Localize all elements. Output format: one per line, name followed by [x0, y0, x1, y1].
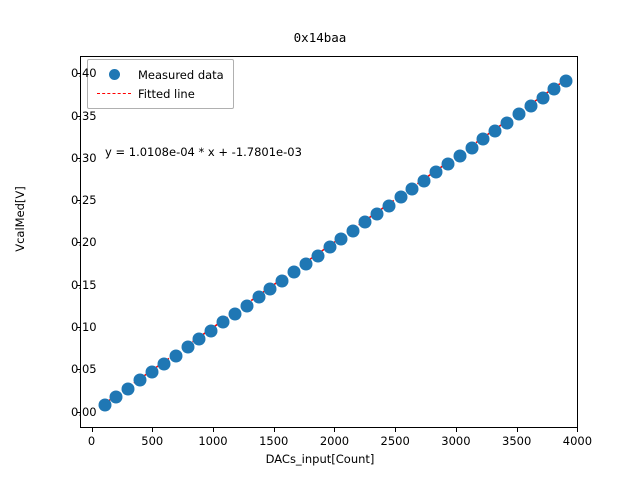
data-point: [134, 374, 147, 387]
data-point: [299, 258, 312, 271]
x-tick-label: 500: [141, 434, 163, 448]
data-point: [548, 83, 561, 96]
data-point: [382, 199, 395, 212]
x-tick-label: 1000: [198, 434, 227, 448]
x-tick-label: 3000: [441, 434, 470, 448]
data-point: [311, 249, 324, 262]
data-layer: [81, 57, 577, 427]
legend-item-measured-data: Measured data: [95, 65, 224, 84]
legend-item-fitted-line: Fitted line: [95, 84, 224, 103]
chart-title: 0x14baa: [0, 30, 640, 45]
data-point: [359, 216, 372, 229]
legend: Measured data Fitted line: [87, 59, 234, 109]
fit-equation-annotation: y = 1.0108e-04 * x + -1.7801e-03: [105, 145, 302, 159]
data-point: [216, 316, 229, 329]
x-tick-label: 2500: [381, 434, 410, 448]
x-tick-mark: [456, 428, 457, 432]
x-tick-mark: [274, 428, 275, 432]
data-point: [560, 75, 573, 88]
data-point: [453, 149, 466, 162]
data-point: [347, 224, 360, 237]
data-point: [98, 399, 111, 412]
data-point: [370, 208, 383, 221]
measured-data-marker-icon: [95, 69, 133, 80]
x-tick-mark: [213, 428, 214, 432]
fitted-line-dash-icon: [95, 93, 133, 94]
data-point: [323, 241, 336, 254]
data-point: [536, 91, 549, 104]
data-point: [524, 99, 537, 112]
x-tick-label: 1500: [259, 434, 288, 448]
data-point: [169, 349, 182, 362]
chart-figure: 0x14baa Measured data Fitted line y = 1.…: [0, 0, 640, 480]
data-point: [430, 166, 443, 179]
legend-label-fitted-line: Fitted line: [133, 87, 195, 101]
y-axis-label: VcalMed[V]: [13, 129, 27, 309]
x-tick-mark: [152, 428, 153, 432]
data-point: [441, 158, 454, 171]
data-point: [205, 324, 218, 337]
data-point: [276, 274, 289, 287]
data-point: [288, 266, 301, 279]
data-point: [252, 291, 265, 304]
data-point: [489, 124, 502, 137]
data-point: [122, 382, 135, 395]
x-tick-label: 0: [88, 434, 95, 448]
x-tick-label: 3500: [502, 434, 531, 448]
x-tick-mark: [395, 428, 396, 432]
data-point: [512, 108, 525, 121]
data-point: [146, 366, 159, 379]
x-axis-label: DACs_input[Count]: [0, 452, 640, 466]
data-point: [110, 391, 123, 404]
legend-label-measured-data: Measured data: [133, 68, 224, 82]
data-point: [157, 357, 170, 370]
x-tick-mark: [517, 428, 518, 432]
x-tick-label: 2000: [320, 434, 349, 448]
data-point: [335, 233, 348, 246]
data-point: [465, 141, 478, 154]
data-point: [228, 307, 241, 320]
x-tick-mark: [577, 428, 578, 432]
data-point: [394, 191, 407, 204]
data-point: [181, 341, 194, 354]
data-point: [477, 133, 490, 146]
x-tick-mark: [92, 428, 93, 432]
data-point: [264, 282, 277, 295]
plot-area: Measured data Fitted line y = 1.0108e-04…: [80, 56, 578, 428]
data-point: [501, 116, 514, 129]
data-point: [193, 332, 206, 345]
data-point: [418, 174, 431, 187]
x-tick-label: 4000: [563, 434, 592, 448]
data-point: [240, 299, 253, 312]
data-point: [406, 183, 419, 196]
x-tick-mark: [334, 428, 335, 432]
